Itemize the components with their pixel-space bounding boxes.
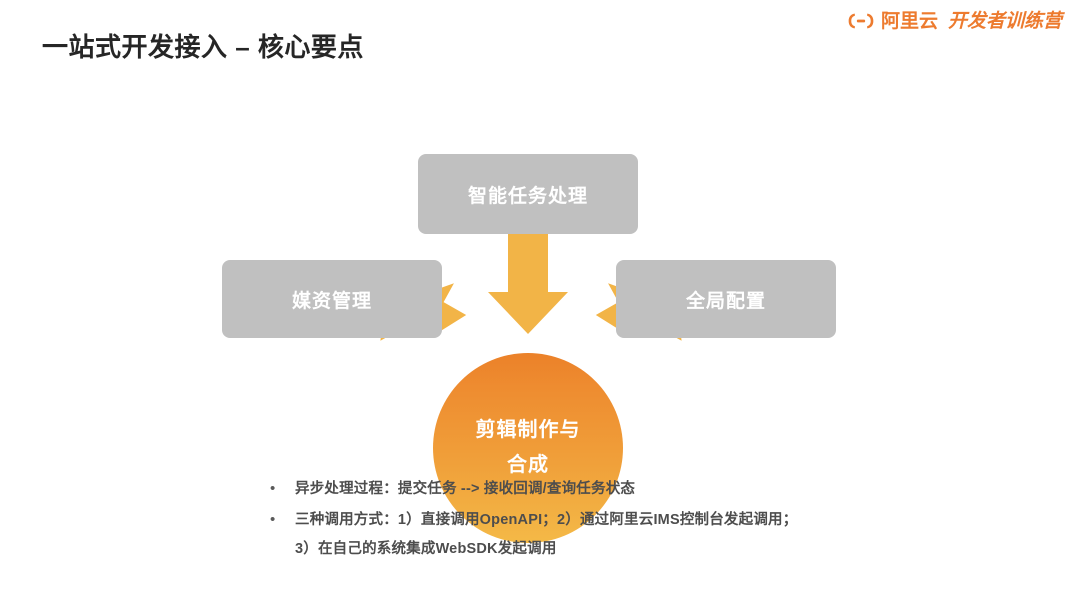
slide-canvas: 阿里云 开发者训练营 一站式开发接入 – 核心要点 智能任务处理 媒资管理 全局… bbox=[0, 0, 1080, 606]
node-box-intelligent-task-processing[interactable]: 智能任务处理 bbox=[418, 154, 638, 234]
center-label-line1: 剪辑制作与 bbox=[476, 413, 581, 448]
node-label: 全局配置 bbox=[686, 286, 766, 313]
bullet-text-group: 三种调用方式：1）直接调用OpenAPI；2）通过阿里云IMS控制台发起调用； … bbox=[295, 509, 797, 560]
bullet-text-continuation: 3）在自己的系统集成WebSDK发起调用 bbox=[295, 538, 797, 560]
node-box-media-asset-management[interactable]: 媒资管理 bbox=[222, 260, 442, 338]
arrow-top-to-center bbox=[488, 234, 568, 334]
bullet-dot-icon: • bbox=[262, 478, 295, 500]
list-item: • 三种调用方式：1）直接调用OpenAPI；2）通过阿里云IMS控制台发起调用… bbox=[262, 509, 1022, 560]
brand-name: 阿里云 bbox=[881, 12, 938, 31]
node-label: 媒资管理 bbox=[292, 286, 372, 313]
architecture-diagram: 智能任务处理 媒资管理 全局配置 剪辑制作与 合成 bbox=[0, 70, 1080, 470]
bullet-list: • 异步处理过程：提交任务 --> 接收回调/查询任务状态 • 三种调用方式：1… bbox=[262, 478, 1022, 569]
alibaba-cloud-logo-icon bbox=[847, 11, 875, 31]
brand-logo: 阿里云 开发者训练营 bbox=[847, 6, 1062, 36]
brand-subtitle: 开发者训练营 bbox=[948, 12, 1062, 31]
bullet-dot-icon: • bbox=[262, 509, 295, 531]
bullet-text: 三种调用方式：1）直接调用OpenAPI；2）通过阿里云IMS控制台发起调用； bbox=[295, 512, 797, 528]
node-label: 智能任务处理 bbox=[468, 181, 588, 208]
bullet-text: 异步处理过程：提交任务 --> 接收回调/查询任务状态 bbox=[295, 478, 635, 500]
page-title: 一站式开发接入 – 核心要点 bbox=[42, 27, 364, 64]
node-box-global-configuration[interactable]: 全局配置 bbox=[616, 260, 836, 338]
list-item: • 异步处理过程：提交任务 --> 接收回调/查询任务状态 bbox=[262, 478, 1022, 500]
